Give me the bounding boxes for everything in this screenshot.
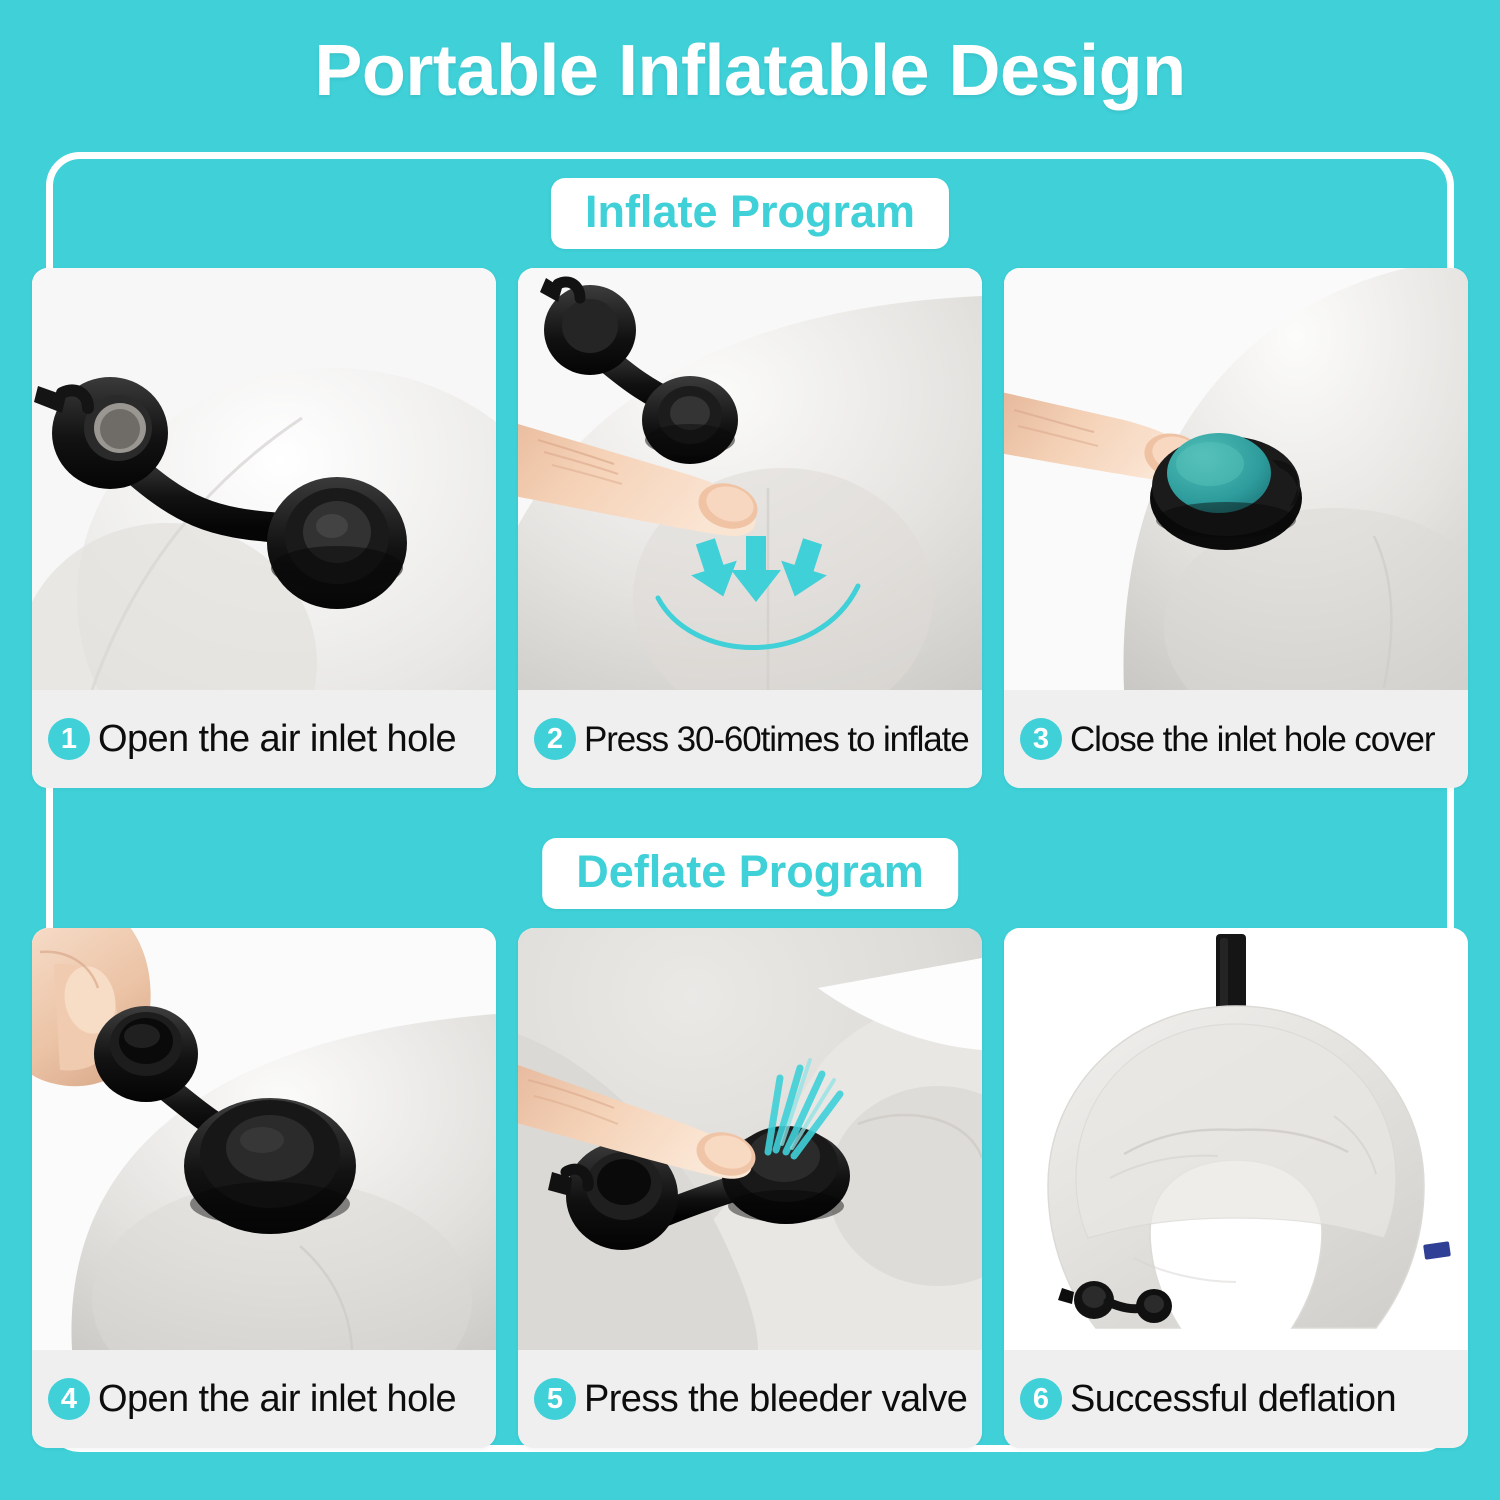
step-card-1: 1 Open the air inlet hole (32, 268, 496, 788)
step-caption-3: 3 Close the inlet hole cover (1004, 690, 1468, 788)
step-number-badge-6: 6 (1020, 1378, 1062, 1420)
step-number-badge-3: 3 (1020, 718, 1062, 760)
step-caption-5: 5 Press the bleeder valve (518, 1350, 982, 1448)
step-card-6: 6 Successful deflation (1004, 928, 1468, 1448)
step-caption-2: 2 Press 30-60times to inflate (518, 690, 982, 788)
section-heading-inflate: Inflate Program (551, 178, 949, 249)
hand-pulling-valve-plug-illustration (32, 928, 496, 1350)
step-caption-6: 6 Successful deflation (1004, 1350, 1468, 1448)
step-photo-4 (32, 928, 496, 1350)
step-card-5: 5 Press the bleeder valve (518, 928, 982, 1448)
finger-closing-teal-valve-cap-illustration (1004, 268, 1468, 690)
valve-open-closeup-illustration (32, 268, 496, 690)
inflate-steps-grid: 1 Open the air inlet hole (0, 268, 1500, 788)
step-caption-text-5: Press the bleeder valve (584, 1380, 967, 1418)
step-number-badge-2: 2 (534, 718, 576, 760)
step-caption-text-2: Press 30-60times to inflate (584, 722, 969, 757)
step-number-badge-1: 1 (48, 718, 90, 760)
step-caption-text-4: Open the air inlet hole (98, 1380, 456, 1418)
step-caption-text-6: Successful deflation (1070, 1380, 1396, 1418)
step-photo-2 (518, 268, 982, 690)
step-caption-text-1: Open the air inlet hole (98, 720, 456, 758)
step-card-3: 3 Close the inlet hole cover (1004, 268, 1468, 788)
step-number-badge-5: 5 (534, 1378, 576, 1420)
finger-pressing-pillow-with-down-arrows-illustration (518, 268, 982, 690)
step-photo-5 (518, 928, 982, 1350)
step-card-2: 2 Press 30-60times to inflate (518, 268, 982, 788)
step-photo-1 (32, 268, 496, 690)
step-caption-1: 1 Open the air inlet hole (32, 690, 496, 788)
step-card-4: 4 Open the air inlet hole (32, 928, 496, 1448)
page-title: Portable Inflatable Design (0, 34, 1500, 110)
finger-pressing-bleeder-valve-with-air-lines-illustration (518, 928, 982, 1350)
step-caption-text-3: Close the inlet hole cover (1070, 722, 1434, 757)
step-caption-4: 4 Open the air inlet hole (32, 1350, 496, 1448)
step-photo-3 (1004, 268, 1468, 690)
step-photo-6 (1004, 928, 1468, 1350)
step-number-badge-4: 4 (48, 1378, 90, 1420)
flat-deflated-u-pillow-illustration (1004, 928, 1468, 1350)
section-heading-deflate: Deflate Program (542, 838, 958, 909)
deflate-steps-grid: 4 Open the air inlet hole (0, 928, 1500, 1448)
